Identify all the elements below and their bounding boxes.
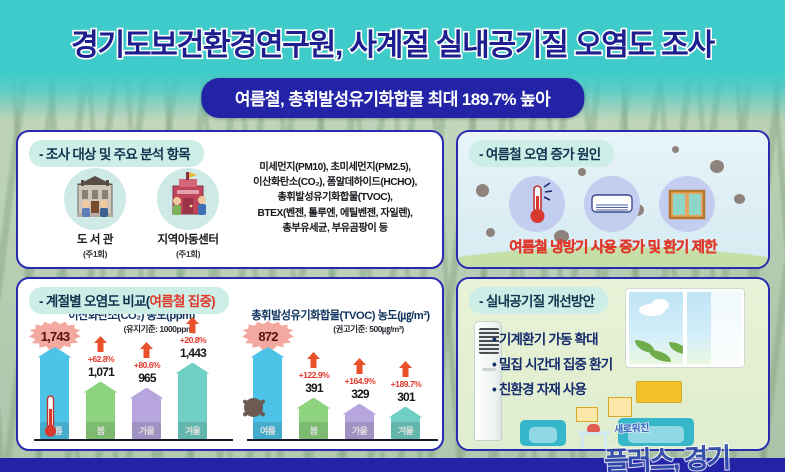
- window-mullion: [683, 292, 687, 367]
- panel-seasonal-comparison: - 계절별 오염도 비교(여름철 집중) 이산화탄소(CO₂) 농도(ppm) …: [16, 277, 444, 451]
- analysis-items-line-0: 미세먼지(PM10), 초미세먼지(PM2.5),: [228, 160, 442, 175]
- bar-tvoc-봄: 봄: [299, 398, 328, 439]
- open-window-illustration: [626, 289, 744, 367]
- panel-survey-scope: - 조사 대상 및 주요 분석 항목 도 서 관 (주1회): [16, 130, 444, 269]
- list-item: 기계환기 가동 확대: [492, 327, 612, 352]
- peak-value-burst: 872: [242, 321, 294, 351]
- bar-tvoc-가을: 가을: [345, 404, 374, 439]
- bar-co2-봄: 봄: [86, 382, 115, 439]
- bar-arrowhead: [389, 407, 423, 418]
- peak-value-burst: 1,743: [29, 321, 81, 351]
- increase-arrow-icon: [353, 358, 366, 374]
- increase-arrow-icon: [399, 361, 412, 377]
- leaf-shape: [649, 350, 671, 362]
- bar-co2-가을: 가을: [132, 388, 161, 439]
- table-leg: [604, 435, 607, 447]
- mold-spore-icon: [244, 398, 263, 417]
- bar-arrowhead: [130, 388, 164, 399]
- sofa-cushion: [628, 426, 684, 443]
- bar-delta-label: +20.8%: [164, 335, 222, 345]
- child-center-label: 지역아동센터: [157, 234, 218, 246]
- chart-co2-axis: [34, 439, 233, 442]
- bar-arrowhead: [343, 404, 377, 415]
- chart-tvoc-title: 총휘발성유기화합물(TVOC) 농도(㎍/m³): [237, 307, 444, 323]
- library-building-icon: [64, 168, 126, 230]
- library-label: 도 서 관: [77, 234, 113, 246]
- subtitle-pill: 여름철, 총휘발성유기화합물 최대 189.7% 높아: [201, 78, 584, 118]
- chart-co2-plot: 여름1,743봄1,071+62.8%가을965+80.6%겨울1,443+20…: [24, 335, 239, 451]
- bar-arrowhead: [297, 398, 331, 409]
- spore-decoration: [710, 160, 724, 173]
- panel-improvement-measures: - 실내공기질 개선방안 기계환기 가동 확대 밀집 시간대 집중 환기 친환경…: [456, 277, 770, 451]
- panel-chart-tag-main: - 계절별 오염도 비교(: [39, 294, 150, 309]
- bar-arrowhead: [176, 363, 210, 374]
- increase-arrow-icon: [94, 336, 107, 352]
- window-pane-sliding: [711, 292, 744, 367]
- bar-value-label: 301: [377, 390, 435, 404]
- closed-window-icon: [659, 176, 715, 232]
- analysis-items-line-4: 총부유세균, 부유곰팡이 등: [228, 221, 442, 236]
- chart-tvoc-plot: 여름872봄391+122.9%가을329+164.9%겨울301+189.7%: [237, 335, 444, 451]
- bar-value-label: 1,443: [164, 346, 222, 360]
- panel-summer-causes: - 여름철 오염 증가 원인: [456, 130, 770, 269]
- wall-art-yellow: [636, 381, 682, 403]
- thermometer-icon: [509, 176, 565, 232]
- table-leg: [581, 435, 584, 447]
- bar-tvoc-여름: 여름: [253, 347, 282, 439]
- footer-band: [0, 458, 785, 472]
- panel-improve-tag: - 실내공기질 개선방안: [469, 287, 608, 314]
- analysis-items-line-2: 총휘발성유기화합물(TVOC),: [228, 190, 442, 205]
- bar-co2-겨울: 겨울: [178, 363, 207, 439]
- bar-value-label: 965: [118, 371, 176, 385]
- child-center-caption: 지역아동센터 (주1회): [133, 231, 243, 260]
- bar-category-label: 여름: [253, 422, 282, 439]
- cause-message: 여름철 냉방기 사용 증가 및 환기 제한: [458, 236, 768, 257]
- bar-arrowhead: [38, 347, 72, 358]
- increase-arrow-icon: [307, 352, 320, 368]
- bar-arrowhead: [251, 347, 285, 358]
- bar-tvoc-겨울: 겨울: [391, 407, 420, 439]
- child-center-building-icon: [157, 168, 219, 230]
- armchair-cushion: [529, 427, 557, 443]
- infographic-canvas: 경기도보건환경연구원, 사계절 실내공기질 오염도 조사 여름철, 총휘발성유기…: [0, 0, 785, 472]
- teapot-shape: [587, 424, 600, 432]
- cloud-shape: [651, 299, 669, 311]
- bar-category-label: 겨울: [178, 422, 207, 439]
- bar-delta-label: +80.6%: [118, 360, 176, 370]
- panel-survey-tag: - 조사 대상 및 주요 분석 항목: [29, 140, 204, 167]
- wall-art-tiny: [576, 407, 598, 422]
- analysis-items-line-3: BTEX(벤젠, 톨루엔, 에틸벤젠, 자일렌),: [228, 206, 442, 221]
- analysis-items-text: 미세먼지(PM10), 초미세먼지(PM2.5),이산화탄소(CO₂), 폼알데…: [228, 160, 442, 236]
- panel-chart-tag-highlight: 여름철 집중): [150, 294, 215, 309]
- air-conditioner-icon: [584, 176, 640, 232]
- bar-category-label: 겨울: [391, 422, 420, 439]
- spore-decoration: [734, 194, 745, 204]
- panel-cause-tag: - 여름철 오염 증가 원인: [469, 140, 614, 167]
- list-item: 친환경 자재 사용: [492, 377, 612, 402]
- panel-chart-tag: - 계절별 오염도 비교(여름철 집중): [29, 287, 229, 314]
- child-center-frequency: (주1회): [133, 248, 243, 260]
- chart-tvoc-axis: [247, 439, 438, 442]
- chart-co2: 이산화탄소(CO₂) 농도(ppm) (유지기준: 1000ppm) 여름1,7…: [24, 305, 239, 451]
- bar-category-label: 봄: [86, 422, 115, 439]
- bar-category-label: 가을: [132, 422, 161, 439]
- increase-arrow-icon: [140, 342, 153, 358]
- improvement-bullet-list: 기계환기 가동 확대 밀집 시간대 집중 환기 친환경 자재 사용: [492, 327, 612, 402]
- list-item: 밀집 시간대 집중 환기: [492, 352, 612, 377]
- spore-decoration: [672, 146, 679, 153]
- analysis-items-line-1: 이산화탄소(CO₂), 폼알데하이드(HCHO),: [228, 175, 442, 190]
- bar-category-label: 봄: [299, 422, 328, 439]
- spore-decoration: [476, 184, 489, 197]
- bar-delta-label: +189.7%: [377, 379, 435, 389]
- thermometer-icon: [44, 395, 55, 437]
- page-title: 경기도보건환경연구원, 사계절 실내공기질 오염도 조사: [0, 20, 785, 64]
- spore-decoration: [578, 168, 586, 176]
- bar-category-label: 가을: [345, 422, 374, 439]
- bar-arrowhead: [84, 382, 118, 393]
- chart-tvoc: 총휘발성유기화합물(TVOC) 농도(㎍/m³) (권고기준: 500㎍/m³)…: [237, 305, 444, 451]
- increase-arrow-icon: [186, 317, 199, 333]
